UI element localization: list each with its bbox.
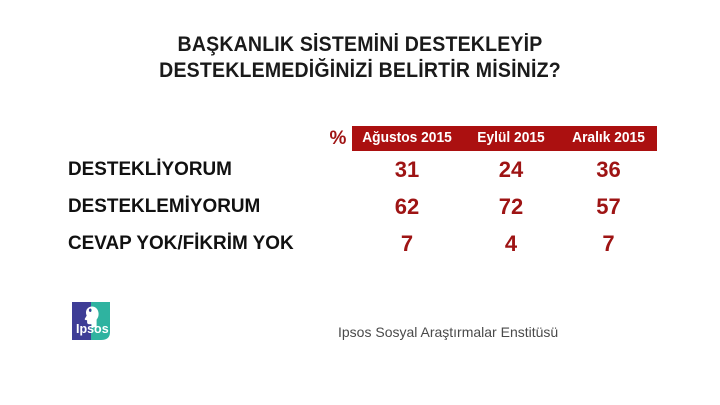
row-label-destekliyorum: DESTEKLİYORUM [68, 151, 232, 188]
results-table: % Ağustos 2015 Eylül 2015 Aralık 2015 DE… [0, 126, 720, 262]
table-row: CEVAP YOK/FİKRİM YOK 7 4 7 [0, 225, 720, 262]
table-row: DESTEKLEMİYORUM 62 72 57 [0, 188, 720, 225]
poll-slide: BAŞKANLIK SİSTEMİNİ DESTEKLEYİP DESTEKLE… [0, 0, 720, 405]
table-row: DESTEKLİYORUM 31 24 36 [0, 151, 720, 188]
cell-cevap-yok-aralik-2015: 7 [560, 225, 657, 262]
cell-destekliyorum-aralik-2015: 36 [560, 151, 657, 188]
header-band: Ağustos 2015 Eylül 2015 Aralık 2015 [352, 126, 657, 151]
cell-cevap-yok-eylul-2015: 4 [462, 225, 560, 262]
cell-destekliyorum-agustos-2015: 31 [352, 151, 462, 188]
row-label-cevap-yok-fikrim-yok: CEVAP YOK/FİKRİM YOK [68, 225, 294, 262]
percent-symbol: % [326, 127, 350, 151]
cell-destekliyorum-eylul-2015: 24 [462, 151, 560, 188]
table-header-row: % Ağustos 2015 Eylül 2015 Aralık 2015 [0, 126, 720, 151]
title-line-1: BAŞKANLIK SİSTEMİNİ DESTEKLEYİP [25, 32, 695, 58]
column-header-aralik-2015: Aralık 2015 [562, 126, 654, 151]
column-header-agustos-2015: Ağustos 2015 [355, 126, 460, 151]
page-title: BAŞKANLIK SİSTEMİNİ DESTEKLEYİP DESTEKLE… [0, 32, 720, 84]
cell-desteklemiyorum-agustos-2015: 62 [352, 188, 462, 225]
footer-source-text: Ipsos Sosyal Araştırmalar Enstitüsü [338, 324, 558, 340]
ipsos-wordmark: Ipsos [76, 322, 109, 336]
cell-desteklemiyorum-aralik-2015: 57 [560, 188, 657, 225]
title-line-2: DESTEKLEMEDİĞİNİZİ BELİRTİR MİSİNİZ? [25, 58, 695, 84]
cell-desteklemiyorum-eylul-2015: 72 [462, 188, 560, 225]
ipsos-logo-icon: Ipsos [70, 300, 112, 342]
row-label-desteklemiyorum: DESTEKLEMİYORUM [68, 188, 260, 225]
cell-cevap-yok-agustos-2015: 7 [352, 225, 462, 262]
column-header-eylul-2015: Eylül 2015 [464, 126, 557, 151]
ipsos-logo: Ipsos [70, 300, 112, 342]
